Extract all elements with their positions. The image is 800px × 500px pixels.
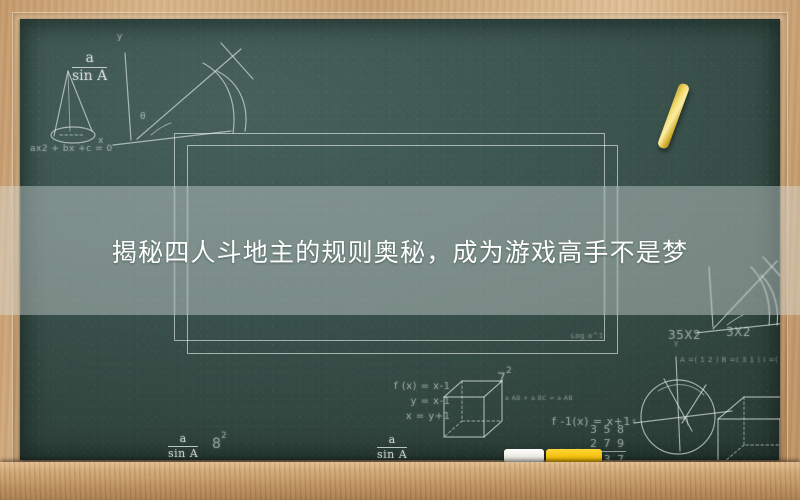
fraction-denominator: sin A xyxy=(377,449,407,460)
law-of-sines-fraction-2: a sin A xyxy=(377,434,407,460)
power-eight-base: 8 xyxy=(212,436,221,454)
fraction-numerator: a xyxy=(377,434,407,446)
power-eight-exponent: 2 xyxy=(221,431,227,442)
log-expression-text: Log a^1 xyxy=(571,332,604,341)
axis-label-x: x xyxy=(98,136,104,147)
ledge-wood-grain xyxy=(0,462,800,500)
cube-sketch-right xyxy=(710,389,780,460)
fraction-numerator: a xyxy=(168,433,198,445)
circle-axis-label-x: x xyxy=(632,417,637,426)
power-seven-base: 7 xyxy=(497,371,506,389)
chalk-stick-on-board[interactable] xyxy=(657,82,691,150)
chalk-tray-white[interactable] xyxy=(504,449,544,463)
power-seven-exponent: 2 xyxy=(506,366,512,377)
law-of-sines-fraction-left: a sin A xyxy=(168,433,198,459)
chalk-tray-yellow[interactable] xyxy=(546,449,602,463)
fraction-denominator: sin A xyxy=(168,448,198,460)
axis-label-y: y xyxy=(117,32,123,43)
chalkboard-banner-image: a sin A ax2 + bx +c = 0 y x θ f (x) = x-… xyxy=(0,0,800,500)
page-title: 揭秘四人斗地主的规则奥秘，成为游戏高手不是梦 xyxy=(0,186,800,315)
chalk-ledge xyxy=(0,462,800,500)
angle-label-theta: θ xyxy=(140,112,146,123)
law-of-sines-1-wrap: a sin A xyxy=(168,433,198,459)
vector-sum-text: a AB + a BC = a AB xyxy=(505,395,573,403)
law-of-sines-2-wrap: a sin A xyxy=(377,434,407,460)
